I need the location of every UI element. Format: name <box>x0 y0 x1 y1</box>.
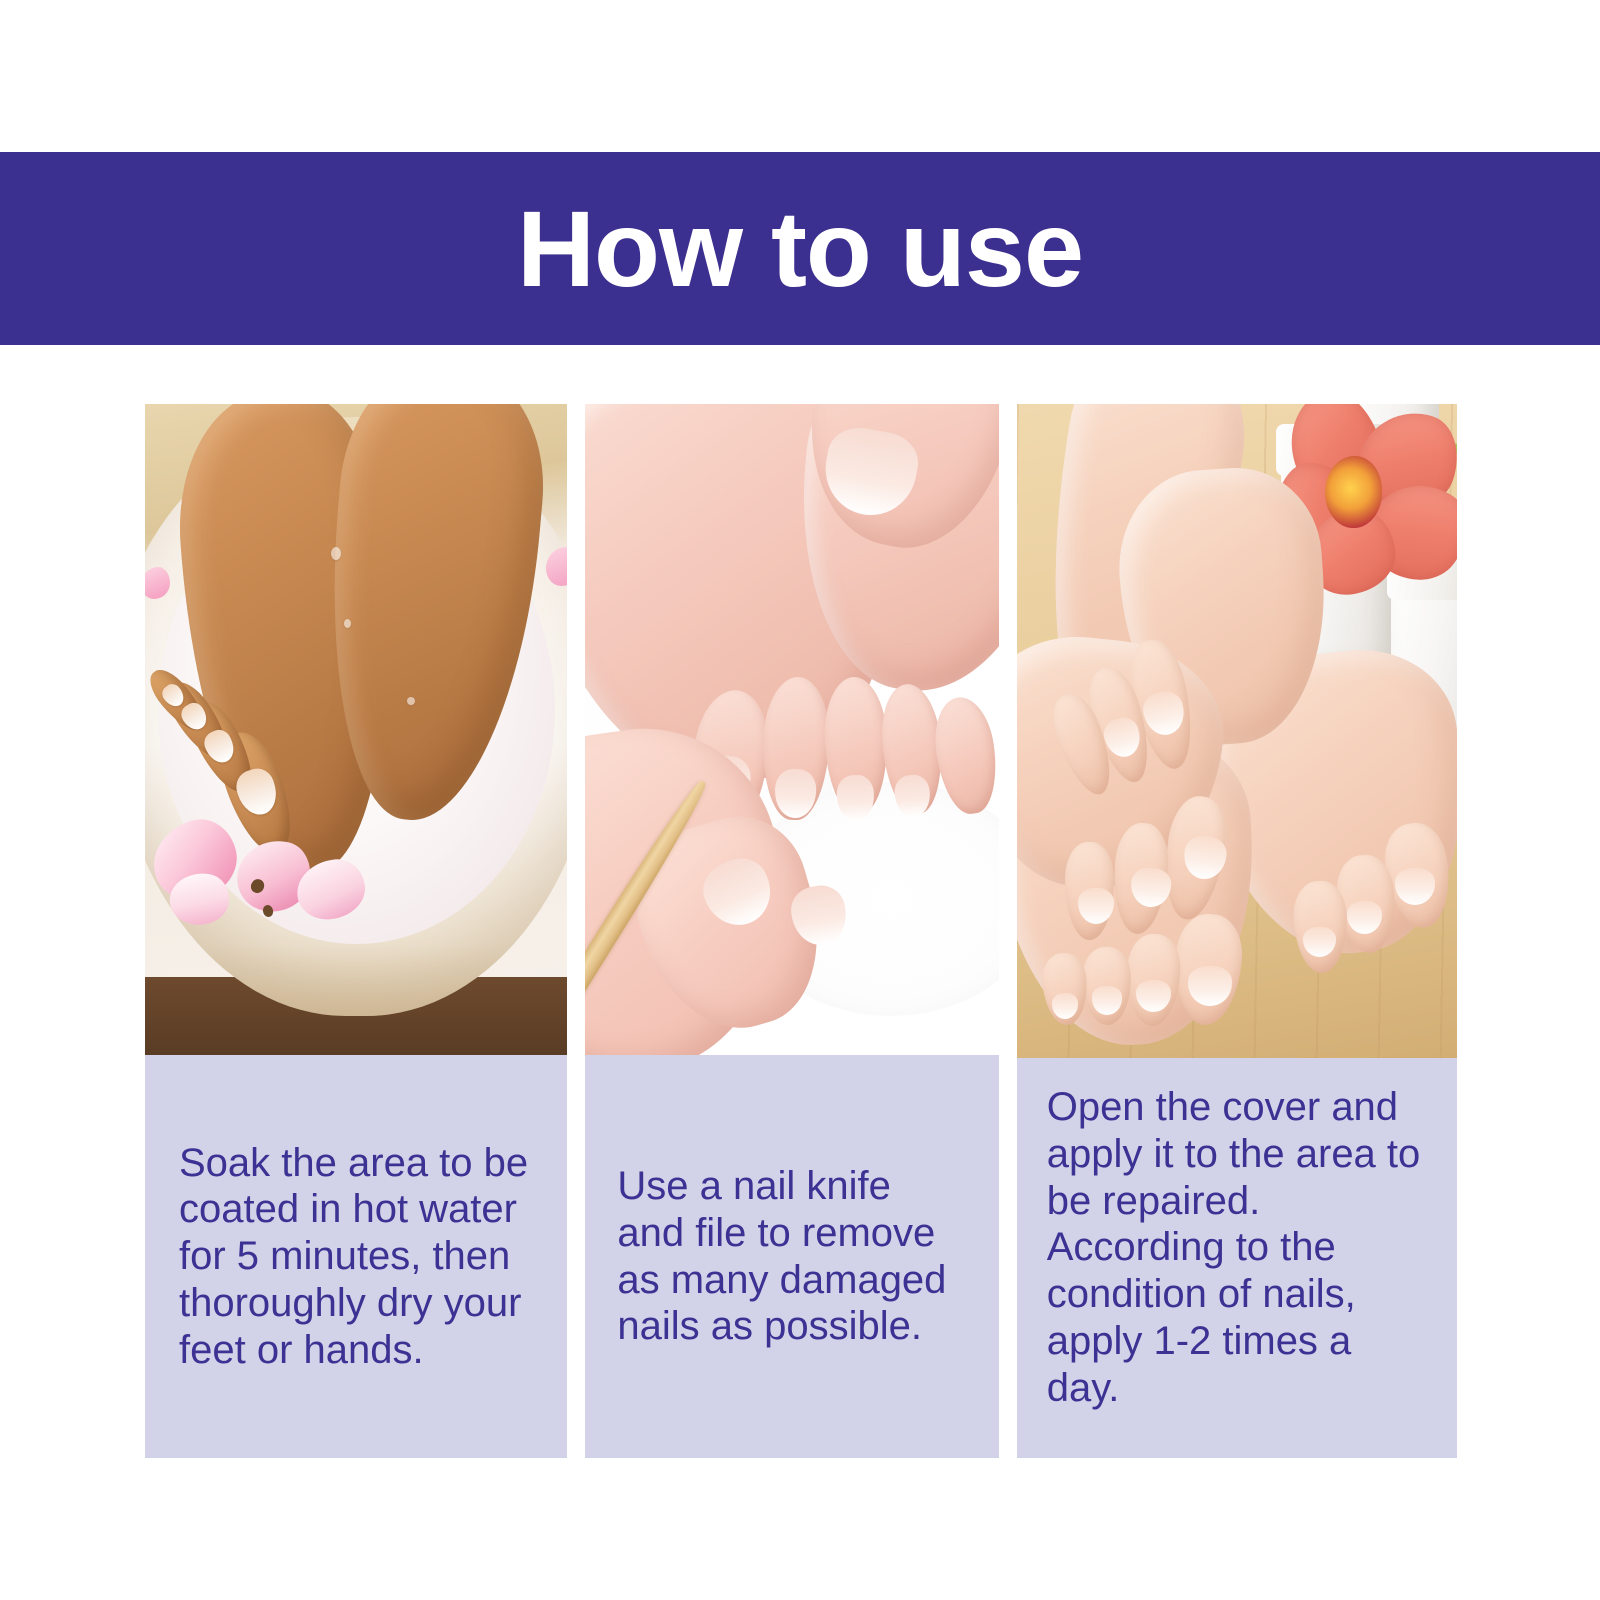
step-card-3: Open the cover and apply it to the area … <box>1017 404 1457 1458</box>
page-title: How to use <box>517 195 1083 303</box>
header-banner: How to use <box>0 152 1600 345</box>
step-card-1: Soak the area to be coated in hot water … <box>145 404 567 1458</box>
orchid-center <box>1325 456 1382 528</box>
step-image-file-nails <box>585 404 998 1055</box>
water-droplet <box>331 547 341 560</box>
step-caption-3: Open the cover and apply it to the area … <box>1047 1084 1427 1412</box>
step-caption-1: Soak the area to be coated in hot water … <box>179 1140 533 1374</box>
step-card-2: Use a nail knife and file to remove as m… <box>585 404 998 1458</box>
step-caption-box-1: Soak the area to be coated in hot water … <box>145 1055 567 1458</box>
step-image-soak-feet <box>145 404 567 1055</box>
water-droplet <box>407 697 415 705</box>
step-caption-2: Use a nail knife and file to remove as m… <box>617 1163 966 1350</box>
steps-row: Soak the area to be coated in hot water … <box>145 404 1457 1458</box>
water-droplet <box>344 619 351 628</box>
step-image-apply-product <box>1017 404 1457 1058</box>
step-caption-box-2: Use a nail knife and file to remove as m… <box>585 1055 998 1458</box>
step-caption-box-3: Open the cover and apply it to the area … <box>1017 1058 1457 1458</box>
